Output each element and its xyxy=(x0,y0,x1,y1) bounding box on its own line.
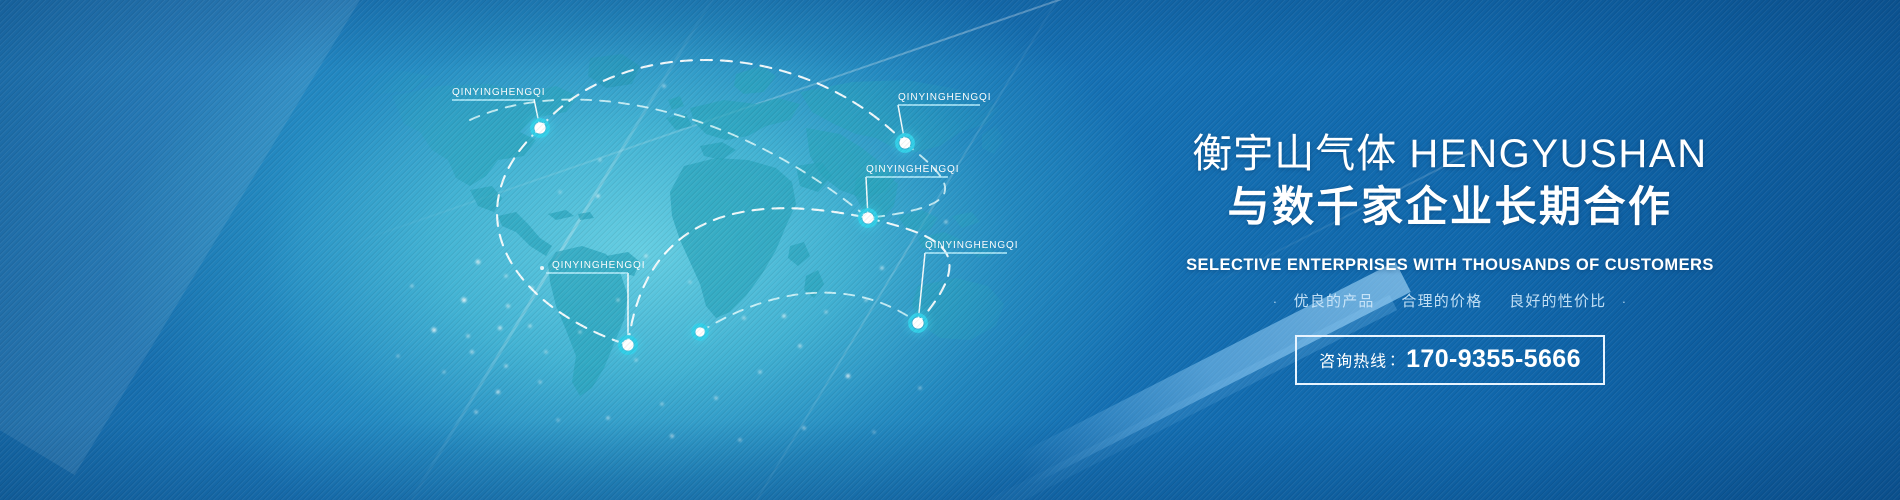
hotline-colon: ： xyxy=(1387,352,1406,369)
hotline-number: 170-9355-5666 xyxy=(1406,345,1581,373)
title-en: HENGYUSHAN xyxy=(1409,132,1707,176)
tagline-trail-dot: · xyxy=(1612,294,1638,309)
title-line-1: 衡宇山气体 HENGYUSHAN xyxy=(1130,128,1770,180)
title-line-2: 与数千家企业长期合作 xyxy=(1130,180,1770,234)
tagline: · 优良的产品 合理的价格 良好的性价比 · xyxy=(1130,290,1770,311)
tagline-item-2: 合理的价格 xyxy=(1401,293,1482,310)
tagline-item-3: 良好的性价比 xyxy=(1509,293,1606,310)
title-cn: 衡宇山气体 xyxy=(1192,132,1397,176)
promo-banner: QINYINGHENGQI QINYINGHENGQI QINYINGHENGQ… xyxy=(0,0,1900,500)
hotline-box[interactable]: 咨询热线：170-9355-5666 xyxy=(1295,335,1605,385)
subtitle-english: SELECTIVE ENTERPRISES WITH THOUSANDS OF … xyxy=(1130,256,1770,275)
tagline-lead-dot: · xyxy=(1263,294,1289,309)
hotline-label: 咨询热线 xyxy=(1319,354,1387,371)
tagline-item-1: 优良的产品 xyxy=(1294,293,1375,310)
headline-block: 衡宇山气体 HENGYUSHAN 与数千家企业长期合作 SELECTIVE EN… xyxy=(1130,128,1770,385)
